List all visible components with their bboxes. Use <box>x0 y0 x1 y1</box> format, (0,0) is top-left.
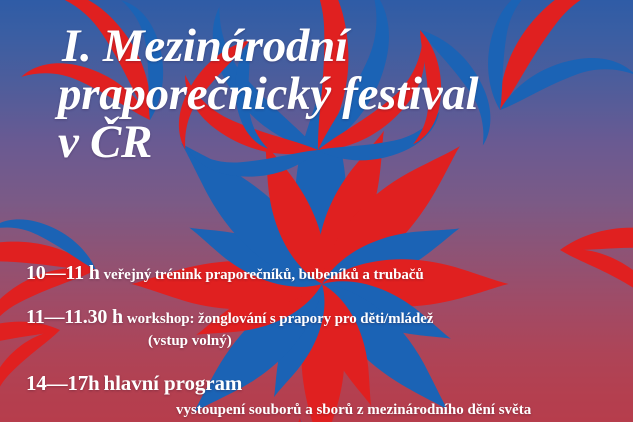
programme-cutoff-line: vystoupení souborů a sborů z mezinárodní… <box>176 400 626 420</box>
programme-time: 11—11.30 h <box>26 306 123 328</box>
programme-list: 10—11 h veřejný trénink praporečníků, bu… <box>26 262 626 420</box>
programme-description: veřejný trénink praporečníků, bubeníků a… <box>104 267 424 283</box>
title-line-2: praporečnický festival <box>58 70 627 118</box>
programme-description: workshop: žonglování s prapory pro děti/… <box>127 311 433 327</box>
programme-row: 10—11 h veřejný trénink praporečníků, bu… <box>26 262 626 287</box>
programme-item: 11—11.30 h workshop: žonglování s prapor… <box>26 306 626 352</box>
programme-time: 14—17h <box>26 371 99 395</box>
poster-canvas: I. Mezinárodní praporečnický festival v … <box>0 0 633 422</box>
title-line-3: v ČR <box>58 118 627 166</box>
programme-description: hlavní program <box>103 371 242 395</box>
programme-row: 14—17h hlavní program <box>26 371 626 396</box>
poster-title: I. Mezinárodní praporečnický festival v … <box>62 22 627 166</box>
programme-row: 11—11.30 h workshop: žonglování s prapor… <box>26 306 626 331</box>
programme-time: 10—11 h <box>26 262 100 284</box>
title-line-1: I. Mezinárodní <box>62 22 627 70</box>
programme-item: 14—17h hlavní program <box>26 371 626 396</box>
programme-item: 10—11 h veřejný trénink praporečníků, bu… <box>26 262 626 287</box>
programme-subnote: (vstup volný) <box>148 331 626 352</box>
